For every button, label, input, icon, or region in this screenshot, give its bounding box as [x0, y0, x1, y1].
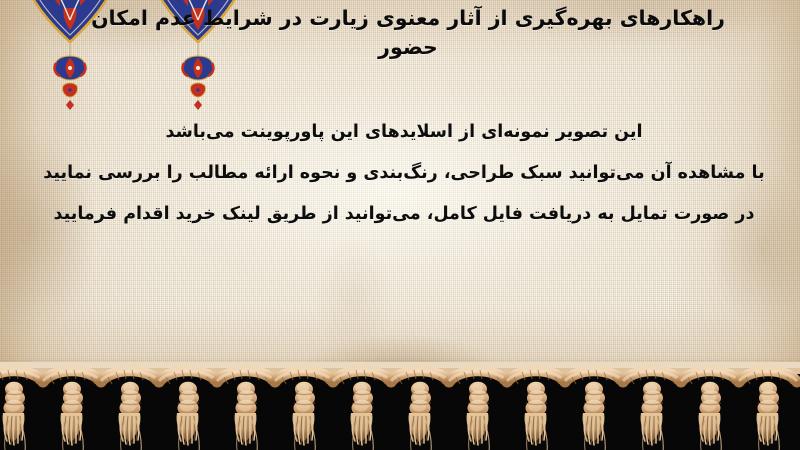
- slide-body-text: این تصویر نمونه‌ای از اسلایدهای این پاور…: [16, 112, 792, 235]
- body-line-2: با مشاهده آن می‌توانید سبک طراحی، رنگ‌بن…: [16, 153, 792, 194]
- presentation-slide: راهکارهای بهره‌گیری از آثار معنوی زیارت …: [0, 0, 800, 450]
- slide-title-line-1: راهکارهای بهره‌گیری از آثار معنوی زیارت …: [24, 4, 792, 33]
- carpet-rope-fringe: [0, 362, 800, 450]
- slide-title-line-2: حضور: [24, 33, 792, 62]
- body-line-1: این تصویر نمونه‌ای از اسلایدهای این پاور…: [16, 112, 792, 153]
- slide-title: راهکارهای بهره‌گیری از آثار معنوی زیارت …: [24, 4, 792, 62]
- body-line-3: در صورت تمایل به دریافت فایل کامل، می‌تو…: [16, 194, 792, 235]
